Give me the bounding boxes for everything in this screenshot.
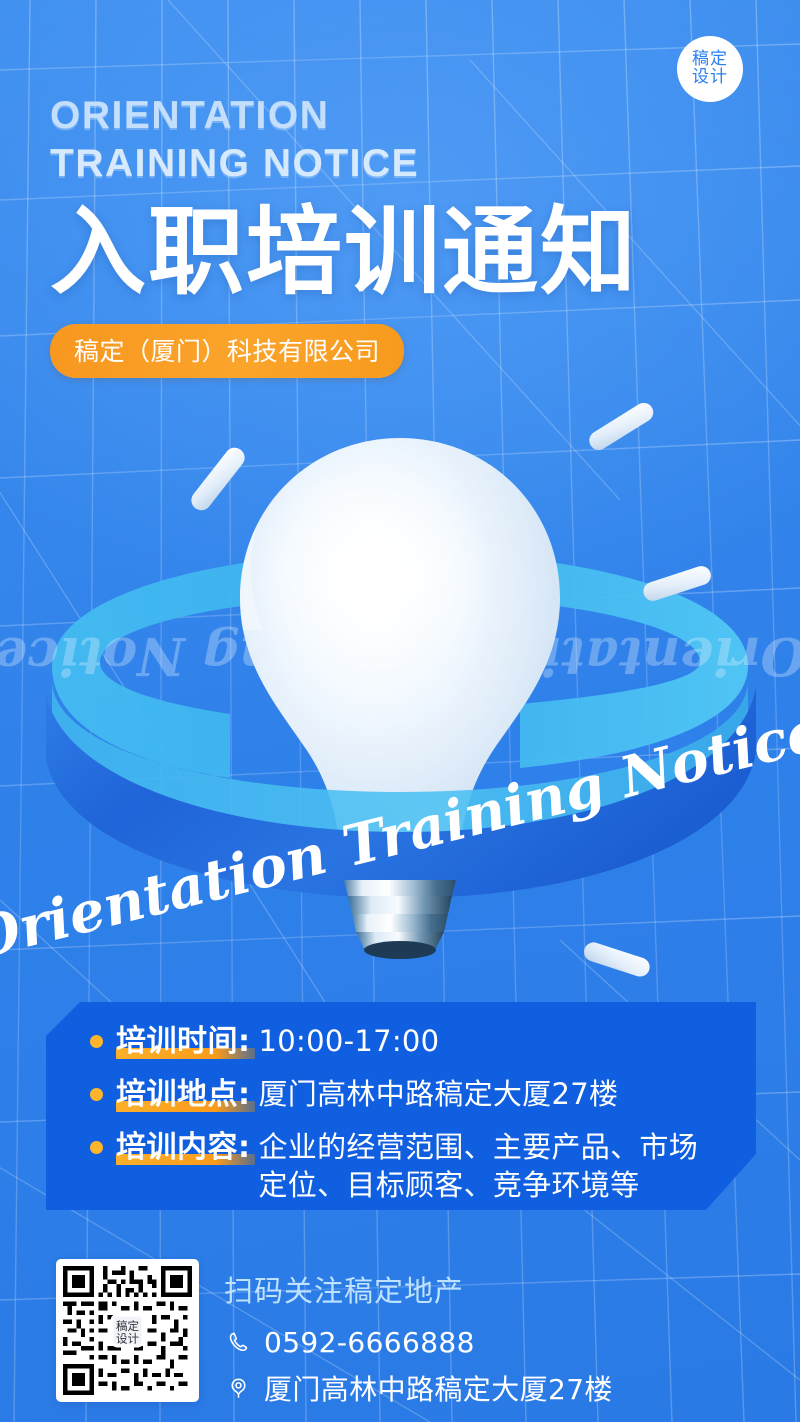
info-label: 培训时间: xyxy=(116,1022,251,1062)
info-rows: 培训时间: 10:00-17:00 培训地点: 厦门高林中路稿定大厦27楼 培训… xyxy=(90,1022,738,1205)
info-label: 培训内容: xyxy=(116,1128,251,1168)
qr-center-line2: 设计 xyxy=(116,1332,140,1346)
eyebrow-line-2: TRAINING NOTICE xyxy=(50,140,750,188)
info-value: 10:00-17:00 xyxy=(259,1022,440,1061)
contact-address-line: 厦门高林中路稿定大厦27楼 xyxy=(224,1368,764,1408)
info-value: 厦门高林中路稿定大厦27楼 xyxy=(259,1075,619,1114)
qr-code[interactable]: 稿定 设计 xyxy=(56,1259,199,1402)
eyebrow-line-1: ORIENTATION xyxy=(50,94,329,137)
brand-badge-line2: 设计 xyxy=(692,69,728,87)
address-text: 厦门高林中路稿定大厦27楼 xyxy=(264,1368,613,1408)
info-value-line1: 企业的经营范围、主要产品、市场 xyxy=(259,1130,699,1164)
bullet-icon xyxy=(90,1141,103,1154)
contact-heading: 扫码关注稿定地产 xyxy=(224,1268,764,1310)
contact-block: 扫码关注稿定地产 0592-6666888 厦门高林中路稿定大厦27楼 xyxy=(224,1268,764,1408)
page-title: 入职培训通知 xyxy=(50,204,750,302)
phone-icon xyxy=(224,1328,252,1358)
phone-number[interactable]: 0592-6666888 xyxy=(264,1326,475,1359)
info-label: 培训地点: xyxy=(116,1075,251,1115)
contact-phone-line: 0592-6666888 xyxy=(224,1326,764,1359)
bulb-screw-base xyxy=(344,880,456,959)
bullet-icon xyxy=(90,1088,103,1101)
info-row-content: 培训内容: 企业的经营范围、主要产品、市场 定位、目标顾客、竞争环境等 xyxy=(90,1128,738,1205)
info-label-wrap: 培训内容: xyxy=(116,1128,251,1168)
spark-icon-lower xyxy=(582,940,653,979)
location-pin-icon xyxy=(224,1373,252,1403)
bullet-icon xyxy=(90,1035,103,1048)
eyebrow-english: ORIENTATION TRAINING NOTICE xyxy=(50,92,750,188)
info-panel: 培训时间: 10:00-17:00 培训地点: 厦门高林中路稿定大厦27楼 培训… xyxy=(46,1002,756,1210)
info-value: 企业的经营范围、主要产品、市场 定位、目标顾客、竞争环境等 xyxy=(259,1128,699,1205)
hero-illustration: Orientation Training Notice xyxy=(0,380,800,1010)
poster-root: 稿定 设计 ORIENTATION TRAINING NOTICE 入职培训通知… xyxy=(0,0,800,1422)
info-value-line2: 定位、目标顾客、竞争环境等 xyxy=(259,1166,699,1205)
headline-block: ORIENTATION TRAINING NOTICE 入职培训通知 稿定（厦门… xyxy=(50,92,750,378)
info-label-wrap: 培训地点: xyxy=(116,1075,251,1115)
info-row-time: 培训时间: 10:00-17:00 xyxy=(90,1022,738,1062)
info-row-location: 培训地点: 厦门高林中路稿定大厦27楼 xyxy=(90,1075,738,1115)
info-label-wrap: 培训时间: xyxy=(116,1022,251,1062)
company-name-pill: 稿定（厦门）科技有限公司 xyxy=(50,324,404,378)
